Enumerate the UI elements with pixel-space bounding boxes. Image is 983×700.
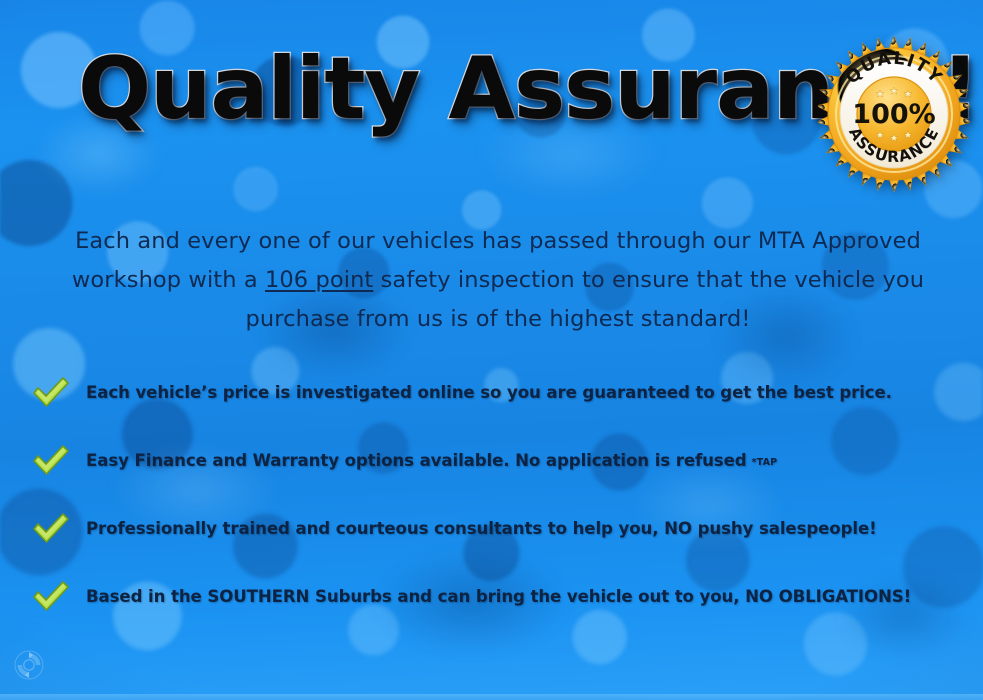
list-item-text: Each vehicle’s price is investigated onl… — [86, 383, 892, 402]
list-item-text: Based in the SOUTHERN Suburbs and can br… — [86, 587, 911, 606]
list-item: Based in the SOUTHERN Suburbs and can br… — [30, 562, 950, 630]
list-item-text: Easy Finance and Warranty options availa… — [86, 451, 747, 470]
check-icon — [30, 510, 72, 546]
title-block: Quality Assurance! — [78, 46, 838, 134]
list-item-label: Based in the SOUTHERN Suburbs and can br… — [86, 587, 916, 606]
badge-center-text: 100% — [852, 99, 935, 130]
list-item-note: *TAP — [752, 457, 778, 468]
list-item: Each vehicle’s price is investigated onl… — [30, 358, 950, 426]
page-title: Quality Assurance! — [78, 46, 838, 134]
lead-paragraph: Each and every one of our vehicles has p… — [58, 222, 938, 339]
list-item: Easy Finance and Warranty options availa… — [30, 426, 950, 494]
circular-arrows-icon — [12, 648, 46, 682]
list-item-label: Easy Finance and Warranty options availa… — [86, 451, 777, 470]
check-icon — [30, 442, 72, 478]
quality-assurance-badge-icon: QUALITY ASSURANCE 100% — [818, 32, 970, 194]
bottom-edge-strip — [0, 694, 983, 700]
list-item-label: Professionally trained and courteous con… — [86, 519, 882, 538]
lead-underlined: 106 point — [265, 267, 373, 293]
slide-canvas: Quality Assurance! — [0, 0, 983, 700]
benefits-list: Each vehicle’s price is investigated onl… — [30, 358, 950, 630]
list-item-text: Professionally trained and courteous con… — [86, 519, 877, 538]
check-icon — [30, 578, 72, 614]
check-icon — [30, 374, 72, 410]
list-item-label: Each vehicle’s price is investigated onl… — [86, 383, 897, 402]
list-item: Professionally trained and courteous con… — [30, 494, 950, 562]
